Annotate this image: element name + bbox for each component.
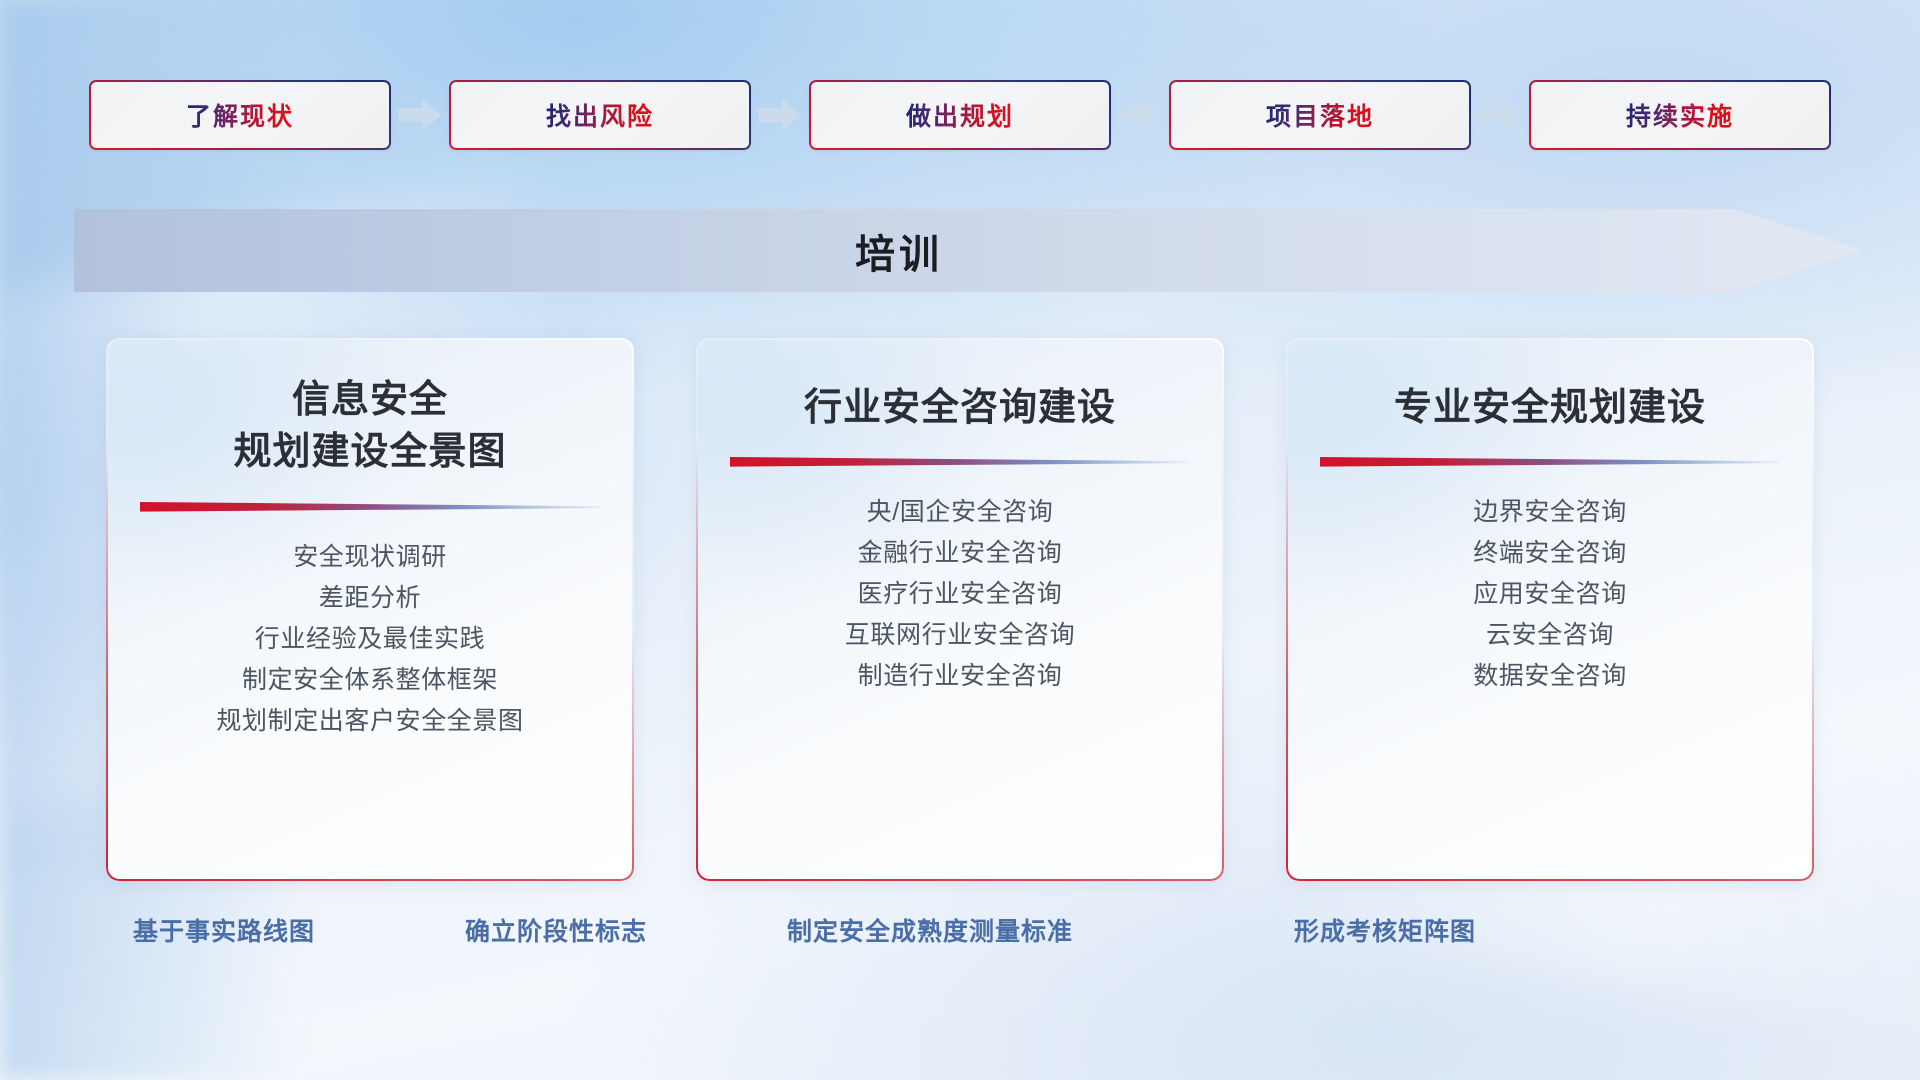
list-item: 应用安全咨询 [1473, 574, 1627, 615]
pipeline-step-4[interactable]: 项目落地 [1169, 80, 1471, 150]
list-item: 互联网行业安全咨询 [845, 615, 1075, 656]
list-item: 差距分析 [319, 578, 421, 619]
training-banner-label: 培训 [74, 209, 1864, 292]
list-item: 金融行业安全咨询 [858, 533, 1063, 574]
card-item-list: 央/国企安全咨询 金融行业安全咨询 医疗行业安全咨询 互联网行业安全咨询 制造行… [730, 492, 1190, 697]
arrow-right-icon [1118, 98, 1162, 132]
list-item: 数据安全咨询 [1473, 656, 1627, 697]
card-information-security-panorama[interactable]: 信息安全 规划建设全景图 安 [106, 338, 634, 881]
list-item: 制造行业安全咨询 [858, 656, 1063, 697]
arrow-right-icon [1478, 98, 1522, 132]
pipeline-step-2[interactable]: 找出风险 [449, 80, 751, 150]
tapered-divider-icon [730, 454, 1190, 470]
slide-canvas: 了解现状 找出风险 做出规划 项目落地 持续实施 [0, 0, 1920, 1080]
list-item: 行业经验及最佳实践 [255, 619, 485, 660]
caption-label: 形成考核矩阵图 [1294, 912, 1476, 948]
list-item: 终端安全咨询 [1473, 533, 1627, 574]
pipeline-step-label: 项目落地 [1266, 97, 1374, 133]
list-item: 制定安全体系整体框架 [242, 660, 498, 701]
process-pipeline: 了解现状 找出风险 做出规划 项目落地 持续实施 [0, 80, 1920, 150]
training-arrow-banner: 培训 [74, 209, 1864, 292]
caption-label: 制定安全成熟度测量标准 [787, 912, 1073, 948]
card-item-list: 边界安全咨询 终端安全咨询 应用安全咨询 云安全咨询 数据安全咨询 [1320, 492, 1780, 697]
card-title: 行业安全咨询建设 [804, 382, 1116, 434]
list-item: 央/国企安全咨询 [867, 492, 1054, 533]
arrow-right-icon [758, 98, 802, 132]
pipeline-step-label: 找出风险 [546, 97, 654, 133]
card-industry-security-consulting[interactable]: 行业安全咨询建设 央/国企安 [696, 338, 1224, 881]
arrow-right-icon [398, 98, 442, 132]
tapered-divider-icon [140, 499, 600, 515]
card-professional-security-planning[interactable]: 专业安全规划建设 边界安全咨 [1286, 338, 1814, 881]
list-item: 医疗行业安全咨询 [858, 574, 1063, 615]
list-item: 安全现状调研 [293, 537, 447, 578]
card-item-list: 安全现状调研 差距分析 行业经验及最佳实践 制定安全体系整体框架 规划制定出客户… [140, 537, 600, 742]
pipeline-step-label: 了解现状 [186, 97, 294, 133]
list-item: 边界安全咨询 [1473, 492, 1627, 533]
caption-label: 确立阶段性标志 [465, 912, 647, 948]
pipeline-step-label: 做出规划 [906, 97, 1014, 133]
tapered-divider-icon [1320, 454, 1780, 470]
pipeline-step-1[interactable]: 了解现状 [89, 80, 391, 150]
pipeline-step-label: 持续实施 [1626, 97, 1734, 133]
caption-label: 基于事实路线图 [133, 912, 315, 948]
card-title: 信息安全 规划建设全景图 [233, 374, 506, 479]
caption-row: 基于事实路线图 确立阶段性标志 制定安全成熟度测量标准 形成考核矩阵图 [0, 912, 1920, 960]
pipeline-step-5[interactable]: 持续实施 [1529, 80, 1831, 150]
list-item: 云安全咨询 [1486, 615, 1614, 656]
list-item: 规划制定出客户安全全景图 [216, 701, 523, 742]
card-row: 信息安全 规划建设全景图 安 [0, 338, 1920, 881]
pipeline-step-3[interactable]: 做出规划 [809, 80, 1111, 150]
card-title: 专业安全规划建设 [1394, 382, 1706, 434]
